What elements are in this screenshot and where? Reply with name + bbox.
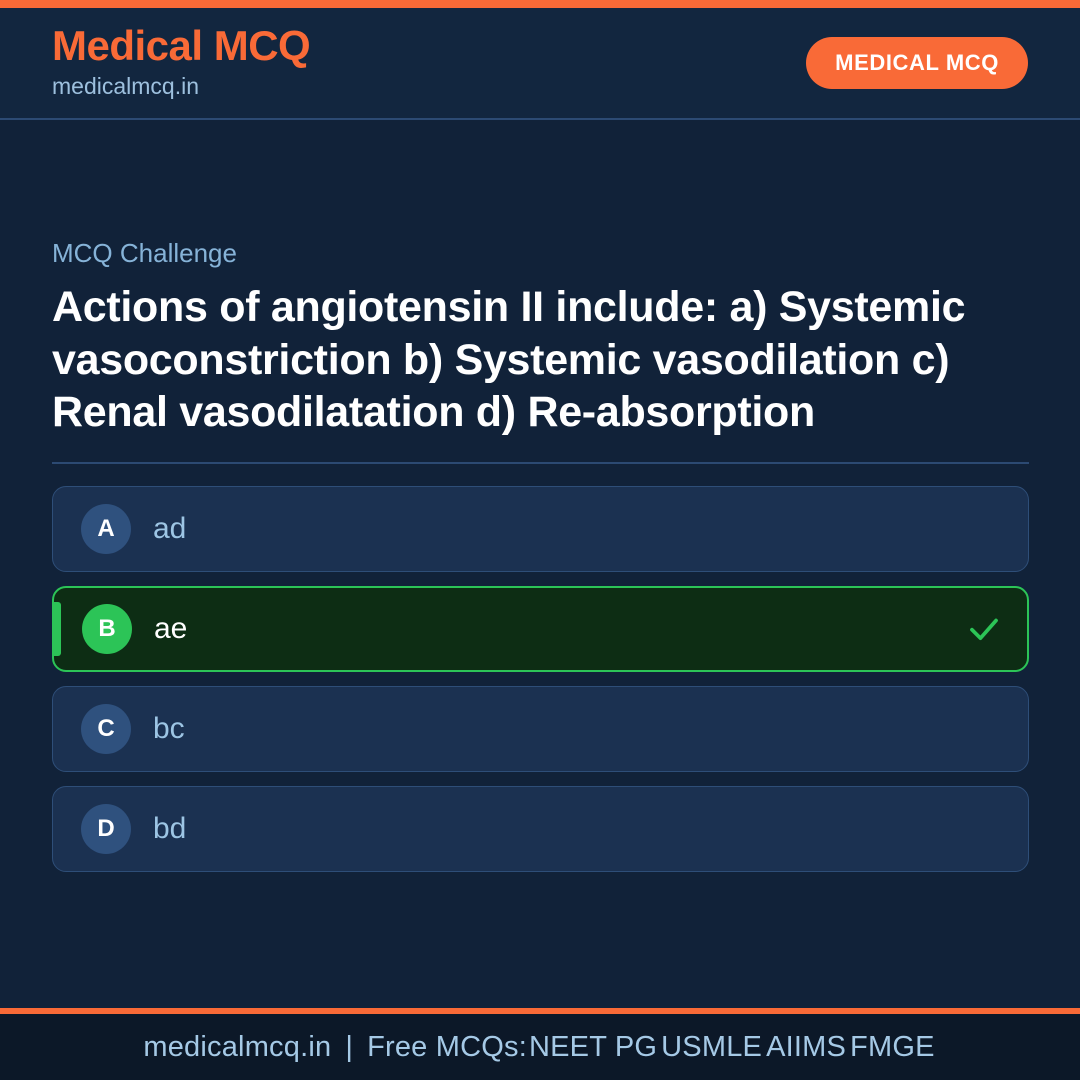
- footer-separator: |: [331, 1031, 367, 1063]
- header-badge: MEDICAL MCQ: [806, 37, 1028, 89]
- main-content: MCQ Challenge Actions of angiotensin II …: [0, 120, 1080, 1008]
- top-accent-bar: [0, 0, 1080, 8]
- option-label: ad: [153, 512, 1002, 545]
- option-letter-badge: D: [81, 804, 131, 854]
- footer-text: medicalmcq.in|Free MCQs:NEET PGUSMLEAIIM…: [143, 1031, 936, 1064]
- option-label: ae: [154, 612, 967, 645]
- check-icon: [967, 612, 1001, 646]
- brand-title: Medical MCQ: [52, 24, 310, 68]
- option-label: bc: [153, 712, 1002, 745]
- correct-accent-bar: [54, 602, 61, 656]
- option-row-d[interactable]: D bd: [52, 786, 1029, 872]
- footer-exam-usmle: USMLE: [659, 1031, 764, 1063]
- footer-exam-fmge: FMGE: [848, 1031, 937, 1063]
- option-row-a[interactable]: A ad: [52, 486, 1029, 572]
- page-footer: medicalmcq.in|Free MCQs:NEET PGUSMLEAIIM…: [0, 1008, 1080, 1080]
- option-label: bd: [153, 812, 1002, 845]
- question-divider: [52, 462, 1029, 464]
- brand-block: Medical MCQ medicalmcq.in: [52, 24, 310, 102]
- option-letter-badge: B: [82, 604, 132, 654]
- option-letter-badge: A: [81, 504, 131, 554]
- brand-url: medicalmcq.in: [52, 70, 310, 102]
- eyebrow-label: MCQ Challenge: [52, 238, 1028, 269]
- option-letter-badge: C: [81, 704, 131, 754]
- option-row-c[interactable]: C bc: [52, 686, 1029, 772]
- footer-exam-neetpg: NEET PG: [527, 1031, 659, 1063]
- question-text: Actions of angiotensin II include: a) Sy…: [52, 281, 1028, 438]
- footer-site: medicalmcq.in: [143, 1031, 331, 1063]
- options-list: A ad B ae C bc D bd: [52, 486, 1028, 872]
- page-header: Medical MCQ medicalmcq.in MEDICAL MCQ: [0, 8, 1080, 120]
- footer-prefix: Free MCQs:: [367, 1031, 527, 1063]
- option-row-b[interactable]: B ae: [52, 586, 1029, 672]
- footer-exam-aiims: AIIMS: [764, 1031, 848, 1063]
